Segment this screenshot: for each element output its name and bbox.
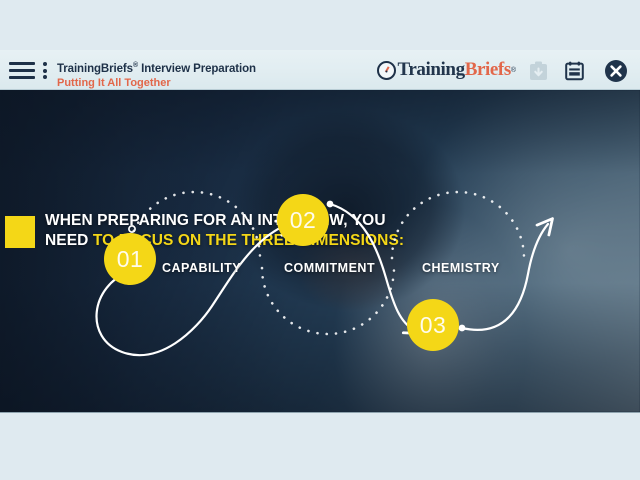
course-title: TrainingBriefs® Interview Preparation <box>57 59 256 76</box>
headline-line-1: WHEN PREPARING FOR AN INTERVIEW, YOU <box>45 211 404 231</box>
close-icon[interactable] <box>604 59 628 88</box>
hamburger-line <box>9 69 35 72</box>
logo-word-training: Training <box>398 59 465 81</box>
step-label-capability: CAPABILITY <box>162 261 241 275</box>
more-options-icon[interactable] <box>42 62 48 79</box>
step-label-chemistry: CHEMISTRY <box>422 261 500 275</box>
headline-line-2: NEED TO FOCUS ON THE THREE-DIMENSIONS: <box>45 231 404 251</box>
hamburger-line <box>9 76 35 79</box>
course-title-rest: Interview Preparation <box>138 63 256 75</box>
step-bubble-01[interactable]: 01 <box>104 233 156 285</box>
hamburger-line <box>9 62 35 65</box>
step-bubble-02[interactable]: 02 <box>277 194 329 246</box>
player-page: TrainingBriefs® Interview Preparation Pu… <box>0 0 640 480</box>
title-block: TrainingBriefs® Interview Preparation Pu… <box>57 59 256 90</box>
trainingbriefs-logo: TrainingBriefs® <box>377 58 517 82</box>
slide-headline: WHEN PREPARING FOR AN INTERVIEW, YOU NEE… <box>45 211 404 251</box>
hamburger-menu-icon[interactable] <box>9 62 35 79</box>
lesson-title: Putting It All Together <box>57 77 256 90</box>
accent-square <box>5 216 35 248</box>
logo-registered-mark: ® <box>511 67 516 74</box>
step-label-commitment: COMMITMENT <box>284 261 375 275</box>
kebab-dot <box>43 69 47 73</box>
logo-word-briefs: Briefs <box>465 59 511 81</box>
step-bubble-03[interactable]: 03 <box>407 299 459 351</box>
stopwatch-icon <box>377 61 396 80</box>
slide-canvas: WHEN PREPARING FOR AN INTERVIEW, YOU NEE… <box>0 90 640 412</box>
footer-area <box>0 412 640 480</box>
course-title-brand: TrainingBriefs <box>57 63 133 75</box>
player-header: TrainingBriefs® Interview Preparation Pu… <box>0 50 640 90</box>
kebab-dot <box>43 75 47 79</box>
headline-line-2-plain: NEED <box>45 232 93 249</box>
notes-icon[interactable] <box>565 61 584 86</box>
background-overlay <box>0 90 640 412</box>
kebab-dot <box>43 62 47 66</box>
download-icon[interactable] <box>529 61 548 86</box>
